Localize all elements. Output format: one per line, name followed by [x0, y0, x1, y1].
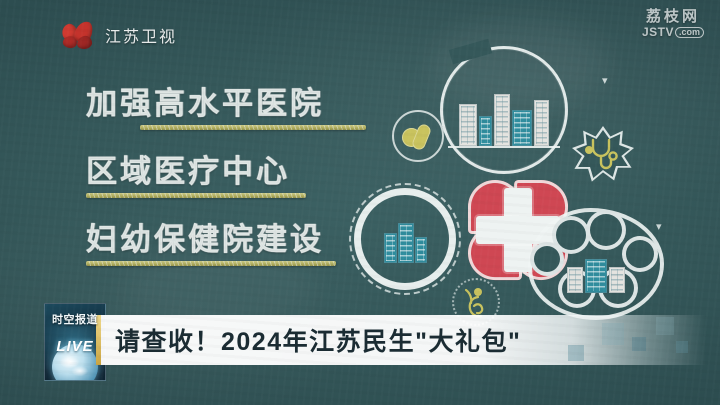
- pills-badge-icon: [392, 110, 444, 162]
- headline-text-1: 加强高水平医院: [86, 78, 324, 123]
- chalk-headline: 加强高水平医院 区域医疗中心 妇幼保健院建设: [86, 78, 366, 282]
- headline-underline-1: [140, 125, 366, 130]
- headline-text-2: 区域医疗中心: [86, 146, 290, 191]
- live-label: LIVE: [45, 338, 105, 355]
- ticker-headline: 请查收！2024年江苏民生"大礼包": [101, 322, 521, 358]
- watermark-cn: 荔枝网: [642, 9, 704, 24]
- sparkle-icon: ▾: [602, 74, 608, 87]
- channel-name: 江苏卫视: [105, 23, 177, 47]
- ticker-plate: 请查收！2024年江苏民生"大礼包": [101, 315, 706, 365]
- broadcast-frame: 江苏卫视 荔枝网 JSTV .com 加强高水平医院 区域医疗中心 妇幼保健院建…: [0, 0, 720, 405]
- hospital-city-circle-icon: [440, 46, 568, 174]
- headline-text-3: 妇幼保健院建设: [86, 214, 324, 259]
- headline-line-2: 区域医疗中心: [86, 146, 366, 198]
- live-program-badge[interactable]: 时空报道 LIVE: [44, 303, 106, 381]
- lower-third: 时空报道 LIVE 请查收！2024年江苏民生"大礼包": [40, 295, 720, 405]
- headline-line-3: 妇幼保健院建设: [86, 214, 366, 266]
- sparkle-icon: ▾: [656, 220, 662, 233]
- program-name: 时空报道: [45, 311, 105, 327]
- jiangsu-tv-swoosh-icon: [62, 20, 96, 50]
- headline-underline-2: [86, 193, 306, 198]
- news-ticker: 请查收！2024年江苏民生"大礼包": [96, 315, 706, 365]
- chalk-illustration-group: ▾ ▾: [340, 28, 680, 328]
- channel-logo: 江苏卫视: [62, 20, 177, 50]
- hospital-building-dashed-circle-icon: [354, 188, 456, 290]
- headline-underline-3: [86, 261, 336, 266]
- stethoscope-burst-icon: [572, 126, 634, 184]
- headline-line-1: 加强高水平医院: [86, 78, 366, 130]
